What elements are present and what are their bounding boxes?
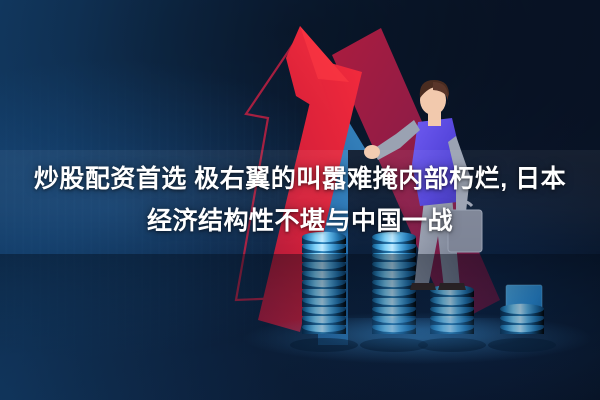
headline-line-2: 经济结构性不堪与中国一战 (0, 200, 600, 242)
cover-image: 炒股配资首选 极右翼的叫嚣难掩内部朽烂, 日本 经济结构性不堪与中国一战 (0, 0, 600, 400)
floor-reflection-glow (255, 318, 585, 370)
headline: 炒股配资首选 极右翼的叫嚣难掩内部朽烂, 日本 经济结构性不堪与中国一战 (0, 158, 600, 242)
headline-line-1: 炒股配资首选 极右翼的叫嚣难掩内部朽烂, 日本 (0, 158, 600, 200)
